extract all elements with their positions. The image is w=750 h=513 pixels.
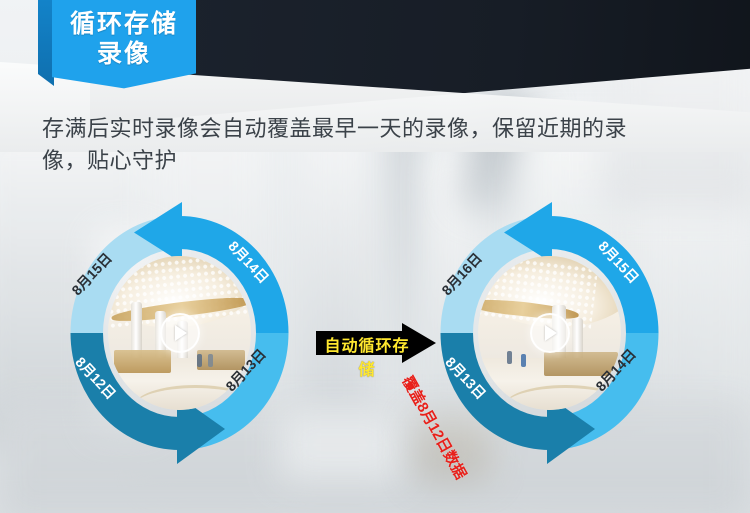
promo-banner: 循环存储 录像 存满后实时录像会自动覆盖最早一天的录像，保留近期的录像，贴心守护 [0, 0, 750, 513]
badge-title-line2: 录像 [97, 39, 151, 69]
section-badge: 循环存储 录像 [38, 0, 196, 96]
badge-fold [38, 0, 54, 86]
play-icon[interactable] [530, 313, 570, 353]
scene-counter [114, 350, 171, 373]
scene-person [507, 351, 512, 364]
cycle-diagram-after: 8月16日 8月15日 8月14日 8月13日 [432, 208, 667, 458]
play-triangle [175, 325, 187, 341]
scene-person [197, 354, 202, 367]
badge-body: 循环存储 录像 [52, 0, 196, 94]
scene-person [208, 354, 213, 367]
play-triangle [545, 325, 557, 341]
play-icon[interactable] [160, 313, 200, 353]
badge-title-line1: 循环存储 [70, 9, 178, 39]
auto-cycle-arrow: 自动循环存储 [314, 323, 438, 363]
description-text: 存满后实时录像会自动覆盖最早一天的录像，保留近期的录像，贴心守护 [42, 113, 642, 177]
auto-cycle-label: 自动循环存储 [324, 332, 410, 380]
scene-person [521, 354, 526, 367]
cycle-diagram-before: 8月15日 8月14日 8月13日 8月12日 [62, 208, 297, 458]
background-blur-shape [280, 410, 400, 480]
